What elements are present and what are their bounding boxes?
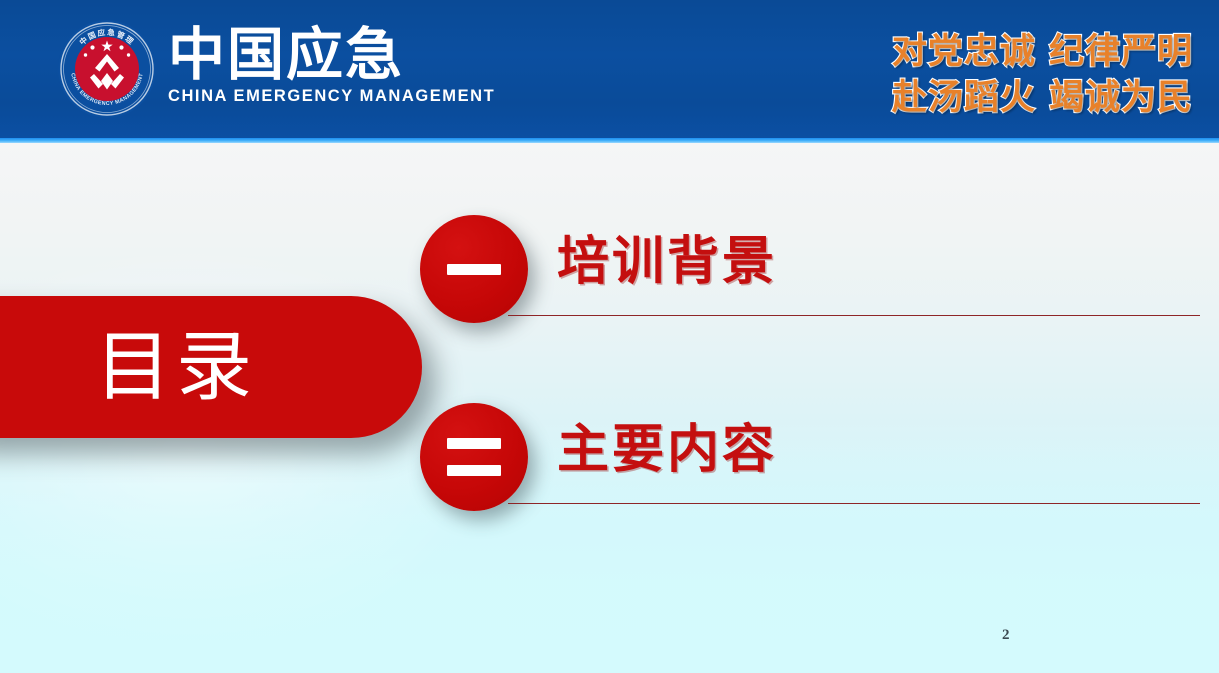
toc-item-1-rule <box>508 315 1200 316</box>
toc-item-1-label: 培训背景 <box>557 229 777 295</box>
marker-bar <box>447 465 501 476</box>
page-number: 2 <box>1002 625 1010 645</box>
header-accent-line <box>0 138 1219 143</box>
toc-banner-label: 目录 <box>95 327 257 407</box>
brand-name-en: CHINA EMERGENCY MANAGEMENT <box>168 87 588 106</box>
slogan-line-1: 对党忠诚 纪律严明 <box>892 29 1193 75</box>
marker-bar <box>447 438 501 449</box>
china-emergency-management-emblem-icon: 中国应急管理 CHINA EMERGENCY MANAGEMENT <box>57 19 157 119</box>
toc-item-2[interactable]: 主要内容 <box>420 403 1200 511</box>
toc-marker-two-icon <box>420 403 528 511</box>
toc-banner: 目录 <box>0 296 422 438</box>
brand-wordmark: 中国应急 CHINA EMERGENCY MANAGEMENT <box>168 24 588 116</box>
header-bar: 中国应急管理 CHINA EMERGENCY MANAGEMENT 中国应急 C… <box>0 0 1219 138</box>
toc-item-2-label: 主要内容 <box>557 417 777 483</box>
toc-item-2-rule <box>508 503 1200 504</box>
slide: 中国应急管理 CHINA EMERGENCY MANAGEMENT 中国应急 C… <box>0 0 1219 673</box>
toc-marker-one-icon <box>420 215 528 323</box>
slogan-line-2: 赴汤蹈火 竭诚为民 <box>892 75 1193 121</box>
marker-bar <box>447 264 501 275</box>
toc-item-1[interactable]: 培训背景 <box>420 215 1200 323</box>
brand-name-cn: 中国应急 <box>168 24 588 86</box>
header-slogan: 对党忠诚 纪律严明 赴汤蹈火 竭诚为民 <box>892 29 1193 121</box>
